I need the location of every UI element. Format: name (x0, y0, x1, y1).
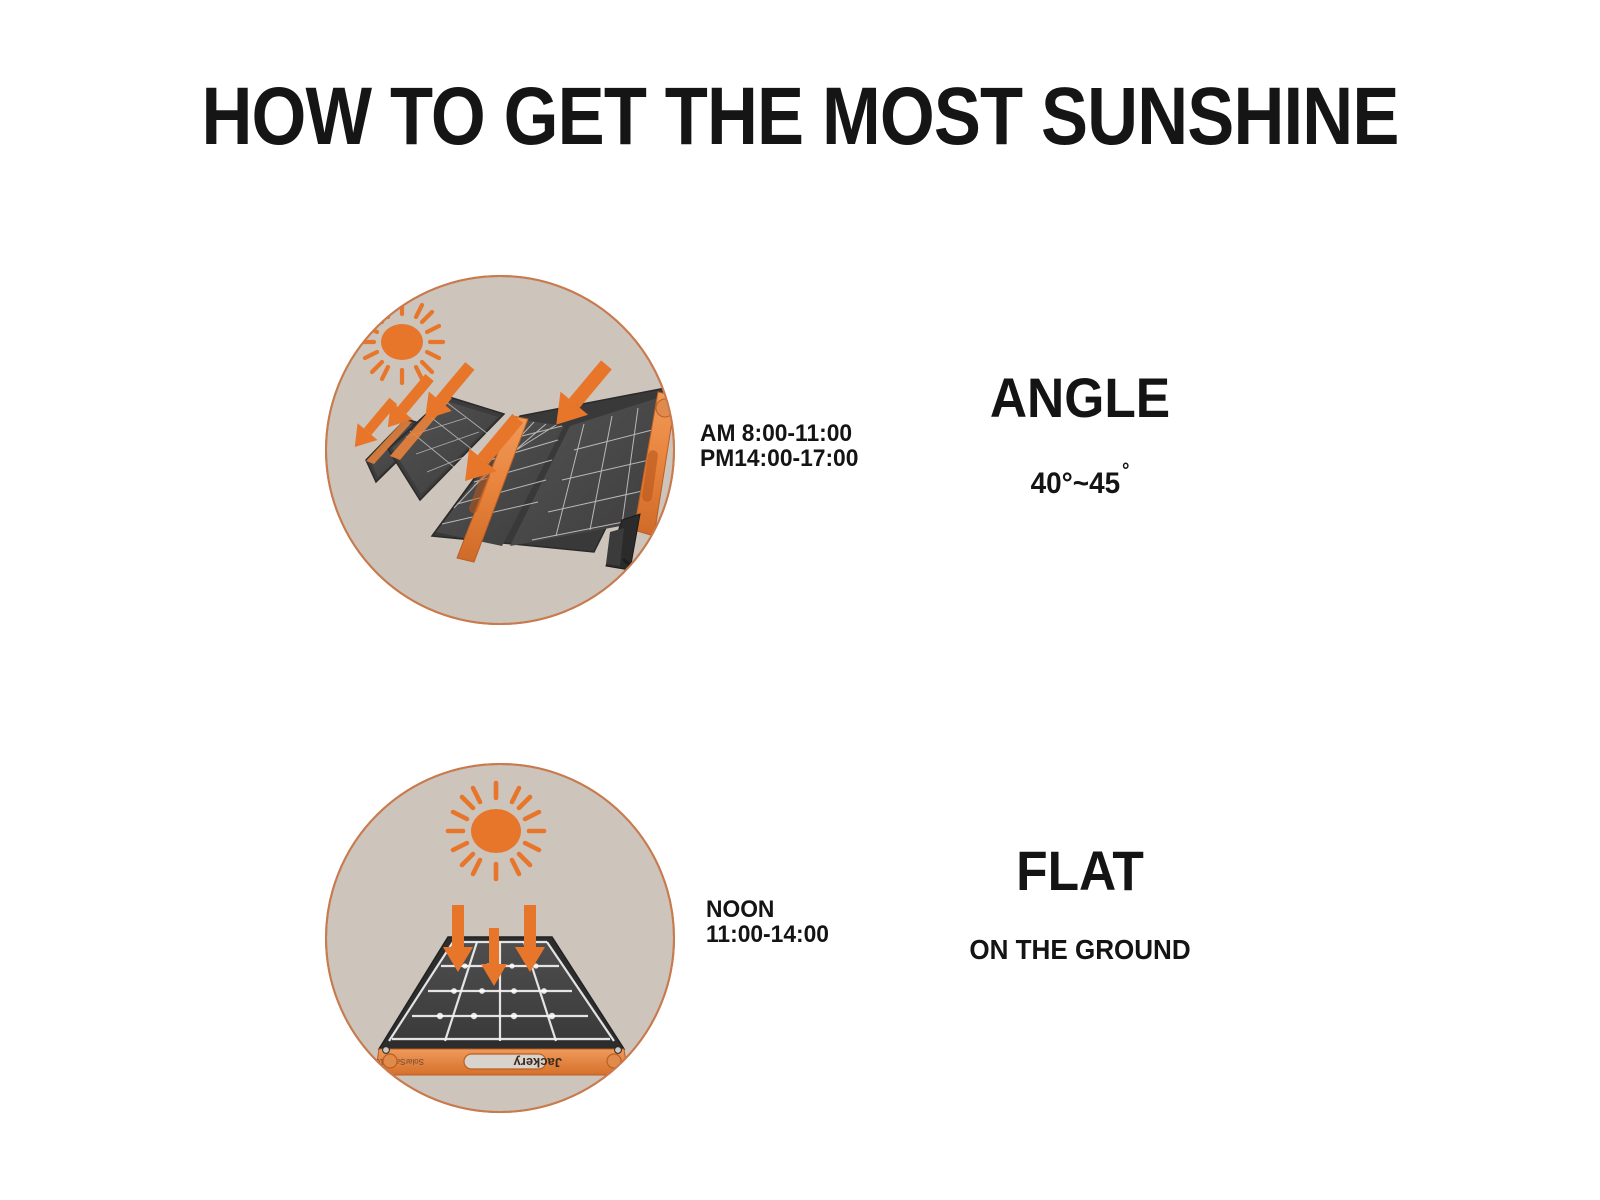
panel-brand-label: Jackery (513, 1055, 562, 1070)
label-block-flat: FLAT ON THE GROUND (830, 842, 1330, 966)
label-block-angle: ANGLE 40°~45° (830, 369, 1330, 500)
sub-flat: ON THE GROUND (848, 934, 1313, 966)
time-caption-flat: NOON 11:00-14:00 (706, 897, 829, 947)
sub-angle: 40°~45° (848, 455, 1313, 500)
heading-angle: ANGLE (850, 369, 1310, 427)
section-flat: Jackery SolarSaga 100 (0, 762, 1600, 1114)
time-line-1: NOON (706, 897, 829, 922)
time-line-2: 11:00-14:00 (706, 922, 829, 947)
flat-solar-panel-illustration: Jackery SolarSaga 100 (324, 762, 676, 1114)
tilted-solar-panel-illustration (324, 274, 676, 626)
sun-icon (448, 783, 544, 879)
heading-flat: FLAT (850, 842, 1310, 900)
section-angle: AM 8:00-11:00 PM14:00-17:00 ANGLE 40°~45… (0, 274, 1600, 626)
degree-symbol-icon: ° (1122, 460, 1129, 482)
page-title: HOW TO GET THE MOST SUNSHINE (112, 74, 1488, 160)
sun-icon (361, 301, 443, 383)
sub-angle-value: 40°~45 (1031, 467, 1121, 500)
